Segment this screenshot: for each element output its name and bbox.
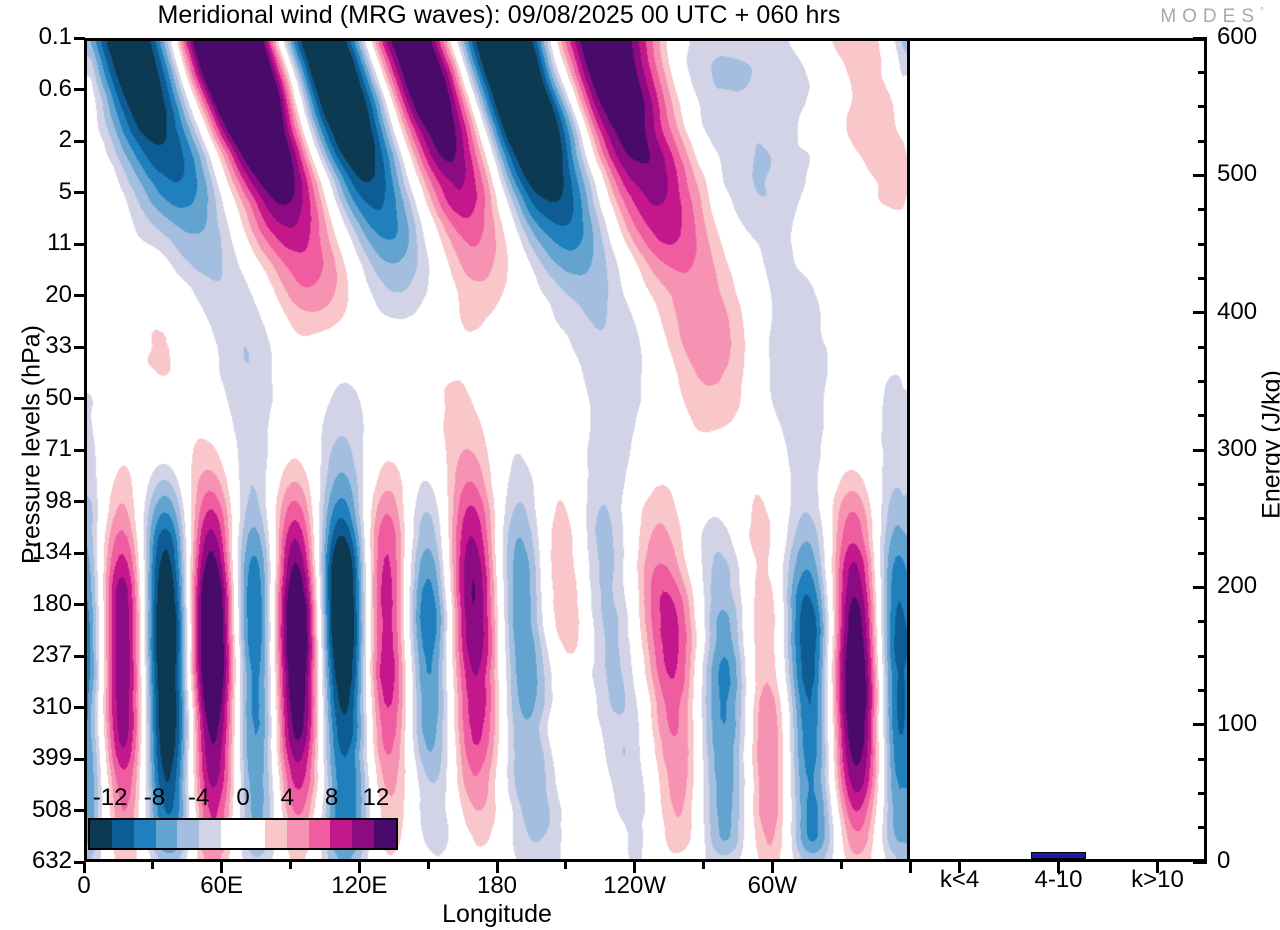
longitude-axis-tick [702,862,705,869]
energy-axis-title: Energy (J/kg) [1258,265,1280,625]
pressure-tick-label: 2 [0,128,72,152]
pressure-tick-label: 310 [0,695,72,719]
page-title: Meridional wind (MRG waves): 09/08/2025 … [84,1,914,30]
pressure-axis-tick [74,655,85,658]
pressure-axis-tick [74,397,85,400]
contour-plot-panel [84,38,910,862]
energy-axis-tick [1198,620,1207,623]
pressure-axis-tick [74,243,85,246]
longitude-axis-tick [840,862,843,869]
colorbar-swatch [156,820,178,848]
colorbar-tick-label: 0 [236,784,249,812]
energy-axis-tick [1198,140,1207,143]
energy-category-tick [958,862,961,873]
pressure-axis-tick [74,140,85,143]
energy-axis-tick [1193,174,1207,177]
energy-axis-tick [1198,71,1207,74]
energy-axis-tick [1193,586,1207,589]
longitude-axis-tick [427,862,430,869]
colorbar-swatch [374,820,396,848]
pressure-axis-tick [74,37,85,40]
pressure-axis-tick [74,191,85,194]
colorbar-swatch [112,820,134,848]
contour-canvas-holder [87,41,907,859]
pressure-tick-label: 632 [0,849,72,873]
energy-axis-tick [1193,723,1207,726]
energy-axis-tick [1198,105,1207,108]
longitude-tick-label: 60W [712,874,832,898]
colorbar-swatch [330,820,352,848]
energy-axis-tick [1198,517,1207,520]
colorbar-tick-label: 8 [325,784,338,812]
pressure-axis-tick [74,500,85,503]
colorbar-tick-label: -4 [188,784,209,812]
longitude-axis-tick [496,862,499,873]
energy-bar [1031,852,1086,859]
pressure-axis-title-wrap: Pressure levels (hPa) [0,0,1,1]
energy-axis-tick [1198,277,1207,280]
pressure-axis-tick [74,758,85,761]
colorbar-swatch [265,820,287,848]
colorbar-swatch [309,820,331,848]
energy-axis-tick [1198,346,1207,349]
colorbar-swatch [177,820,199,848]
longitude-tick-label: 60E [162,874,282,898]
energy-axis-tick [1198,826,1207,829]
energy-axis-tick [1198,552,1207,555]
colorbar-swatch [199,820,221,848]
longitude-tick-label: 120W [575,874,695,898]
colorbar-swatch [90,820,112,848]
pressure-axis-tick [74,449,85,452]
energy-category-tick [1057,862,1060,873]
colorbar-swatch [134,820,156,848]
energy-axis-tick [1198,483,1207,486]
longitude-axis-tick [358,862,361,873]
energy-axis-tick [1198,689,1207,692]
energy-axis-tick [1198,380,1207,383]
energy-tick-label: 300 [1217,437,1257,461]
meridional-wind-contour-canvas [87,41,907,859]
pressure-axis-tick [74,88,85,91]
colorbar-swatch [243,820,265,848]
energy-axis-tick [1198,208,1207,211]
pressure-tick-label: 0.6 [0,77,72,101]
longitude-tick-label: 180 [437,874,557,898]
energy-category-tick [1156,862,1159,873]
colorbar [88,818,398,850]
energy-tick-label: 100 [1217,712,1257,736]
pressure-axis-tick [74,552,85,555]
longitude-axis-tick [220,862,223,873]
pressure-axis-title: Pressure levels (hPa) [18,265,47,625]
pressure-axis-tick [74,346,85,349]
colorbar-tick-label: -12 [93,784,128,812]
energy-tick-label: 600 [1217,25,1257,49]
longitude-axis-tick [909,862,912,873]
pressure-tick-label: 399 [0,746,72,770]
pressure-axis-tick [74,294,85,297]
colorbar-swatch [221,820,243,848]
energy-tick-label: 200 [1217,574,1257,598]
energy-axis-tick [1193,449,1207,452]
energy-axis-tick [1198,792,1207,795]
longitude-axis-tick [771,862,774,873]
colorbar-tick-labels: -12-8-404812 [76,784,416,810]
longitude-axis-tick [151,862,154,869]
energy-tick-label: 0 [1217,849,1230,873]
colorbar-tick-label: -8 [144,784,165,812]
energy-tick-label: 400 [1217,300,1257,324]
pressure-tick-label: 237 [0,643,72,667]
energy-axis-tick [1193,861,1207,864]
pressure-tick-label: 11 [0,231,72,255]
pressure-tick-label: 0.1 [0,25,72,49]
energy-axis-tick [1193,311,1207,314]
longitude-axis-tick [289,862,292,869]
longitude-axis-tick [564,862,567,869]
colorbar-swatch [287,820,309,848]
energy-bars-group [910,41,1204,859]
longitude-tick-label: 0 [24,874,144,898]
colorbar-tick-label: 12 [362,784,389,812]
energy-tick-label: 500 [1217,162,1257,186]
colorbar-tick-label: 4 [281,784,294,812]
longitude-axis-tick [83,862,86,873]
energy-axis-tick [1198,758,1207,761]
colorbar-swatch [352,820,374,848]
energy-axis-tick [1198,414,1207,417]
energy-axis-tick [1198,243,1207,246]
pressure-tick-label: 508 [0,798,72,822]
pressure-axis-tick [74,706,85,709]
longitude-axis-title: Longitude [84,900,910,929]
pressure-axis-tick [74,603,85,606]
energy-axis-tick [1198,655,1207,658]
pressure-tick-label: 5 [0,180,72,204]
longitude-tick-label: 120E [299,874,419,898]
energy-axis-tick [1193,37,1207,40]
energy-spectrum-panel [910,38,1207,862]
longitude-axis-tick [633,862,636,873]
logo-degree-icon: ° [1260,7,1264,18]
